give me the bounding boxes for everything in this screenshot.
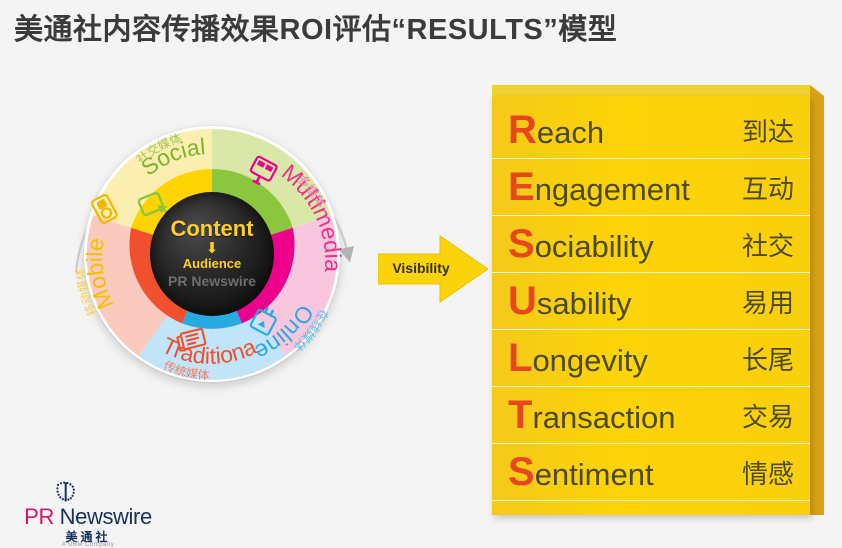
- results-row-engagement[interactable]: Engagement 互动: [492, 159, 810, 216]
- core-content-label: Content: [170, 218, 253, 240]
- results-rest: each: [537, 115, 604, 150]
- results-translation: 互动: [742, 169, 798, 206]
- wheel-center-core: Content ⬇ Audience PR Newswire: [150, 192, 274, 316]
- down-arrow-icon: ⬇: [206, 241, 219, 256]
- prn-word-newswire: Newswire: [54, 504, 152, 529]
- prn-globe-icon: [52, 478, 80, 506]
- core-watermark: PR Newswire: [168, 273, 256, 290]
- results-rest: ociability: [535, 229, 654, 264]
- results-row-usability[interactable]: Usability 易用: [492, 273, 810, 330]
- results-translation: 到达: [742, 112, 798, 149]
- results-initial: S: [508, 450, 535, 494]
- results-translation: 情感: [742, 454, 798, 491]
- results-rest: ransaction: [532, 400, 675, 435]
- results-translation: 易用: [742, 283, 798, 320]
- results-term: Transaction: [508, 395, 742, 435]
- results-initial: U: [508, 279, 537, 323]
- results-term: Longevity: [508, 338, 742, 378]
- results-list: Reach 到达 Engagement 互动 Sociability 社交 Us…: [492, 96, 810, 515]
- results-translation: 社交: [742, 226, 798, 263]
- results-rest: ngagement: [535, 172, 690, 207]
- page-title: 美通社内容传播效果ROI评估“RESULTS”模型: [14, 6, 617, 48]
- results-row-transaction[interactable]: Transaction 交易: [492, 387, 810, 444]
- results-term: Usability: [508, 281, 742, 321]
- results-translation: 交易: [742, 397, 798, 434]
- prn-word-pr: PR: [24, 504, 54, 529]
- results-initial: S: [508, 222, 535, 266]
- results-translation: 长尾: [742, 340, 798, 377]
- visibility-label: Visibility: [386, 260, 456, 276]
- results-rest: ongevity: [532, 343, 647, 378]
- results-row-longevity[interactable]: Longevity 长尾: [492, 330, 810, 387]
- results-row-sociability[interactable]: Sociability 社交: [492, 216, 810, 273]
- results-term: Reach: [508, 110, 742, 150]
- results-panel: Reach 到达 Engagement 互动 Sociability 社交 Us…: [492, 85, 824, 515]
- results-row-sentiment[interactable]: Sentiment 情感: [492, 444, 810, 501]
- panel-top-bevel: [492, 85, 824, 96]
- content-distribution-wheel: Social 社交媒体 Multimedia 多媒体 Online 在线媒体 T…: [62, 104, 362, 404]
- results-initial: E: [508, 165, 535, 209]
- core-audience-label: Audience: [183, 257, 242, 271]
- results-term: Sentiment: [508, 452, 742, 492]
- prn-wordmark: PR Newswire: [12, 504, 164, 530]
- results-term: Sociability: [508, 224, 742, 264]
- results-initial: R: [508, 108, 537, 152]
- results-rest: sability: [537, 286, 632, 321]
- results-initial: T: [508, 393, 532, 437]
- prn-tagline: A UBM Company: [12, 542, 164, 548]
- results-term: Engagement: [508, 167, 742, 207]
- results-row-reach[interactable]: Reach 到达: [492, 102, 810, 159]
- panel-side-bevel: [810, 85, 824, 515]
- results-rest: entiment: [535, 457, 654, 492]
- visibility-arrow: Visibility: [378, 232, 490, 306]
- pr-newswire-logo: PR Newswire 美通社 A UBM Company: [8, 478, 168, 542]
- results-initial: L: [508, 336, 532, 380]
